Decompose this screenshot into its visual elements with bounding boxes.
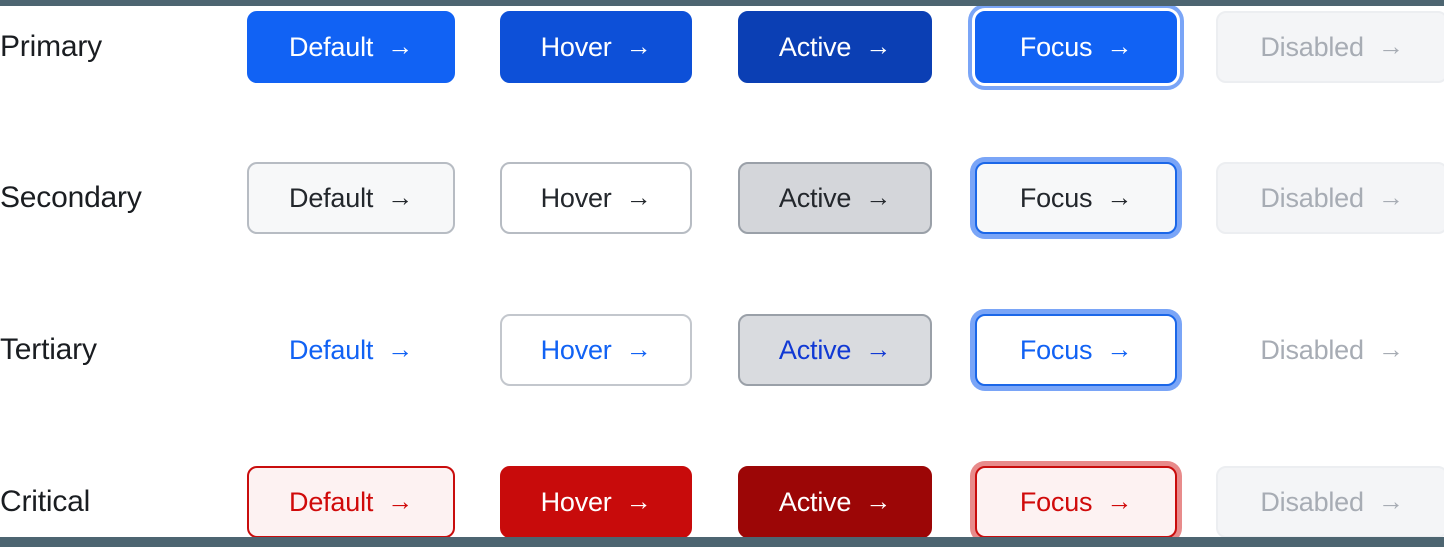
cell-secondary-default: Default → — [247, 162, 455, 234]
top-chrome-bar — [0, 0, 1444, 6]
button-secondary-focus[interactable]: Focus → — [975, 162, 1177, 234]
arrow-right-icon: → — [1106, 488, 1132, 514]
cell-tertiary-focus: Focus → — [975, 314, 1177, 386]
cell-tertiary-disabled: Disabled → — [1216, 314, 1444, 386]
button-primary-active[interactable]: Active → — [738, 11, 932, 83]
arrow-right-icon: → — [1106, 184, 1132, 210]
button-label: Focus — [1020, 32, 1093, 63]
row-label-tertiary: Tertiary — [0, 333, 97, 367]
cell-critical-focus: Focus → — [975, 466, 1177, 538]
arrow-right-icon: → — [1378, 488, 1404, 514]
arrow-right-icon: → — [1378, 184, 1404, 210]
button-primary-focus[interactable]: Focus → — [975, 11, 1177, 83]
button-label: Active — [779, 183, 851, 214]
arrow-right-icon: → — [626, 336, 652, 362]
button-label: Disabled — [1260, 183, 1363, 214]
button-label: Hover — [541, 487, 612, 518]
cell-secondary-disabled: Disabled → — [1216, 162, 1444, 234]
arrow-right-icon: → — [387, 33, 413, 59]
cell-primary-active: Active → — [738, 11, 932, 83]
button-label: Focus — [1020, 183, 1093, 214]
button-tertiary-focus[interactable]: Focus → — [975, 314, 1177, 386]
cell-primary-hover: Hover → — [500, 11, 692, 83]
button-primary-hover[interactable]: Hover → — [500, 11, 692, 83]
arrow-right-icon: → — [626, 184, 652, 210]
arrow-right-icon: → — [387, 336, 413, 362]
cell-tertiary-active: Active → — [738, 314, 932, 386]
arrow-right-icon: → — [1378, 336, 1404, 362]
cell-tertiary-hover: Hover → — [500, 314, 692, 386]
button-critical-focus[interactable]: Focus → — [975, 466, 1177, 538]
cell-primary-default: Default → — [247, 11, 455, 83]
row-label-primary: Primary — [0, 30, 102, 64]
arrow-right-icon: → — [626, 488, 652, 514]
arrow-right-icon: → — [387, 488, 413, 514]
button-label: Hover — [541, 32, 612, 63]
arrow-right-icon: → — [387, 184, 413, 210]
button-secondary-default[interactable]: Default → — [247, 162, 455, 234]
button-label: Active — [779, 335, 851, 366]
row-label-secondary: Secondary — [0, 181, 142, 215]
button-primary-disabled: Disabled → — [1216, 11, 1444, 83]
cell-critical-default: Default → — [247, 466, 455, 538]
cell-primary-disabled: Disabled → — [1216, 11, 1444, 83]
arrow-right-icon: → — [626, 33, 652, 59]
button-primary-default[interactable]: Default → — [247, 11, 455, 83]
cell-primary-focus: Focus → — [975, 11, 1177, 83]
button-critical-hover[interactable]: Hover → — [500, 466, 692, 538]
row-label-critical: Critical — [0, 485, 90, 519]
button-state-matrix: Primary Default → Hover → Active → Focus… — [0, 0, 1444, 547]
button-secondary-hover[interactable]: Hover → — [500, 162, 692, 234]
arrow-right-icon: → — [865, 336, 891, 362]
button-label: Default — [289, 183, 373, 214]
variant-row-secondary: Secondary Default → Hover → Active → Foc… — [0, 150, 1444, 246]
cell-secondary-hover: Hover → — [500, 162, 692, 234]
bottom-chrome-bar — [0, 537, 1444, 547]
button-label: Focus — [1020, 487, 1093, 518]
button-label: Focus — [1020, 335, 1093, 366]
arrow-right-icon: → — [1106, 33, 1132, 59]
button-label: Active — [779, 32, 851, 63]
arrow-right-icon: → — [865, 488, 891, 514]
arrow-right-icon: → — [865, 184, 891, 210]
cell-critical-disabled: Disabled → — [1216, 466, 1444, 538]
button-secondary-active[interactable]: Active → — [738, 162, 932, 234]
variant-row-critical: Critical Default → Hover → Active → Focu… — [0, 454, 1444, 550]
button-label: Active — [779, 487, 851, 518]
button-label: Hover — [541, 183, 612, 214]
button-critical-disabled: Disabled → — [1216, 466, 1444, 538]
cell-tertiary-default: Default → — [247, 314, 455, 386]
button-label: Hover — [541, 335, 612, 366]
button-label: Default — [289, 487, 373, 518]
button-critical-default[interactable]: Default → — [247, 466, 455, 538]
button-tertiary-hover[interactable]: Hover → — [500, 314, 692, 386]
button-tertiary-default[interactable]: Default → — [247, 314, 455, 386]
variant-row-tertiary: Tertiary Default → Hover → Active → Focu… — [0, 302, 1444, 398]
button-critical-active[interactable]: Active → — [738, 466, 932, 538]
button-label: Disabled — [1260, 487, 1363, 518]
variant-row-primary: Primary Default → Hover → Active → Focus… — [0, 0, 1444, 95]
button-label: Default — [289, 32, 373, 63]
button-secondary-disabled: Disabled → — [1216, 162, 1444, 234]
button-tertiary-active[interactable]: Active → — [738, 314, 932, 386]
cell-secondary-focus: Focus → — [975, 162, 1177, 234]
cell-secondary-active: Active → — [738, 162, 932, 234]
button-label: Disabled — [1260, 335, 1363, 366]
arrow-right-icon: → — [1106, 336, 1132, 362]
button-label: Disabled — [1260, 32, 1363, 63]
cell-critical-active: Active → — [738, 466, 932, 538]
button-label: Default — [289, 335, 373, 366]
cell-critical-hover: Hover → — [500, 466, 692, 538]
arrow-right-icon: → — [865, 33, 891, 59]
arrow-right-icon: → — [1378, 33, 1404, 59]
button-tertiary-disabled: Disabled → — [1216, 314, 1444, 386]
